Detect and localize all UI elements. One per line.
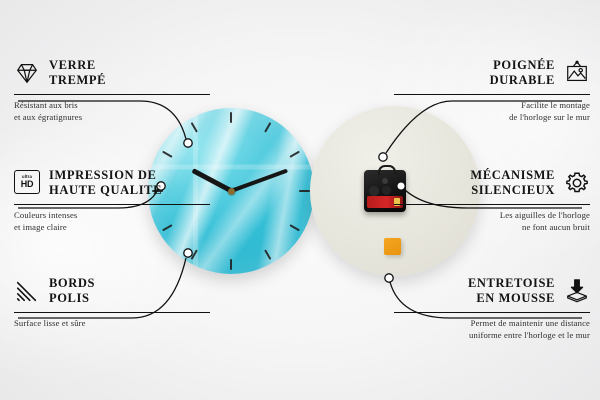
desc-line-1: Permet de maintenir une distance xyxy=(394,317,590,329)
title-line-1: BORDS xyxy=(49,276,95,291)
title-line-1: ENTRETOISE xyxy=(468,276,555,291)
desc-line-1: Couleurs intenses xyxy=(14,209,210,221)
feature-title: VERRE TREMPÉ xyxy=(49,58,106,89)
desc-line-2: ne font aucun bruit xyxy=(394,221,590,233)
desc-line-1: Résistant aux bris xyxy=(14,99,210,111)
feature-description: Surface lisse et sûre xyxy=(14,317,210,329)
diamond-icon xyxy=(14,60,40,86)
title-line-1: MÉCANISME xyxy=(470,168,555,183)
adjust-dial xyxy=(382,186,391,195)
title-line-1: POIGNÉE xyxy=(490,58,555,73)
feature-title: IMPRESSION DE HAUTE QUALITÉ xyxy=(49,168,162,199)
feature-header: MÉCANISME SILENCIEUX xyxy=(394,168,590,199)
feature-header: BORDS POLIS xyxy=(14,276,210,307)
desc-line-2: et image claire xyxy=(14,221,210,233)
title-line-1: IMPRESSION DE xyxy=(49,168,162,183)
feature-description: Couleurs intenses et image claire xyxy=(14,209,210,233)
hour-marker xyxy=(191,122,198,133)
feature-description: Résistant aux bris et aux égratignures xyxy=(14,99,210,123)
title-line-2: HAUTE QUALITÉ xyxy=(49,183,162,198)
feature-header: POIGNÉE DURABLE xyxy=(394,58,590,89)
feature-mecanisme-silencieux: MÉCANISME SILENCIEUX Les aiguilles de l'… xyxy=(394,168,590,233)
ultra-hd-icon: ultra HD xyxy=(14,170,40,196)
feature-title: MÉCANISME SILENCIEUX xyxy=(470,168,555,199)
hour-marker xyxy=(289,151,300,158)
adjust-dial xyxy=(369,186,379,196)
feature-header: ultra HD IMPRESSION DE HAUTE QUALITÉ xyxy=(14,168,210,199)
hour-marker xyxy=(289,224,300,231)
feature-title: BORDS POLIS xyxy=(49,276,95,307)
spindle xyxy=(382,178,388,184)
hand-center-cap xyxy=(228,188,235,195)
desc-line-2: de l'horloge sur le mur xyxy=(394,111,590,123)
feature-description: Permet de maintenir une distance uniform… xyxy=(394,317,590,341)
divider xyxy=(14,204,210,205)
desc-line-1: Les aiguilles de l'horloge xyxy=(394,209,590,221)
feature-verre-trempe: VERRE TREMPÉ Résistant aux bris et aux é… xyxy=(14,58,210,123)
desc-line-1: Surface lisse et sûre xyxy=(14,317,210,329)
title-line-2: DURABLE xyxy=(490,73,555,88)
title-line-2: TREMPÉ xyxy=(49,73,106,88)
divider xyxy=(394,94,590,95)
ultra-hd-main-label: HD xyxy=(21,180,34,189)
feature-description: Facilite le montage de l'horloge sur le … xyxy=(394,99,590,123)
divider xyxy=(14,94,210,95)
feature-title: ENTRETOISE EN MOUSSE xyxy=(468,276,555,307)
desc-line-2: uniforme entre l'horloge et le mur xyxy=(394,329,590,341)
foam-spacer-icon xyxy=(564,278,590,304)
desc-line-2: et aux égratignures xyxy=(14,111,210,123)
gear-icon xyxy=(564,170,590,196)
divider xyxy=(14,312,210,313)
feature-entretoise-en-mousse: ENTRETOISE EN MOUSSE Permet de maintenir… xyxy=(394,276,590,341)
picture-hanger-icon xyxy=(564,60,590,86)
title-line-2: POLIS xyxy=(49,291,95,306)
polished-edges-icon xyxy=(14,278,40,304)
minute-hand xyxy=(230,169,288,193)
hour-marker xyxy=(264,122,271,133)
feature-impression-haute-qualite: ultra HD IMPRESSION DE HAUTE QUALITÉ Cou… xyxy=(14,168,210,233)
hour-marker xyxy=(230,259,232,270)
hour-marker xyxy=(264,249,271,260)
title-line-1: VERRE xyxy=(49,58,106,73)
hour-marker xyxy=(191,249,198,260)
feature-header: ENTRETOISE EN MOUSSE xyxy=(394,276,590,307)
hour-marker xyxy=(230,112,232,123)
feature-header: VERRE TREMPÉ xyxy=(14,58,210,89)
feature-poignee-durable: POIGNÉE DURABLE Facilite le montage de l… xyxy=(394,58,590,123)
title-line-2: EN MOUSSE xyxy=(468,291,555,306)
foam-spacer xyxy=(384,238,401,255)
infographic-stage: VERRE TREMPÉ Résistant aux bris et aux é… xyxy=(0,0,600,400)
hour-marker xyxy=(299,190,310,192)
feature-bords-polis: BORDS POLIS Surface lisse et sûre xyxy=(14,276,210,329)
feature-description: Les aiguilles de l'horloge ne font aucun… xyxy=(394,209,590,233)
feature-title: POIGNÉE DURABLE xyxy=(490,58,555,89)
divider xyxy=(394,312,590,313)
title-line-2: SILENCIEUX xyxy=(470,183,555,198)
divider xyxy=(394,204,590,205)
hour-marker xyxy=(162,151,173,158)
desc-line-1: Facilite le montage xyxy=(394,99,590,111)
